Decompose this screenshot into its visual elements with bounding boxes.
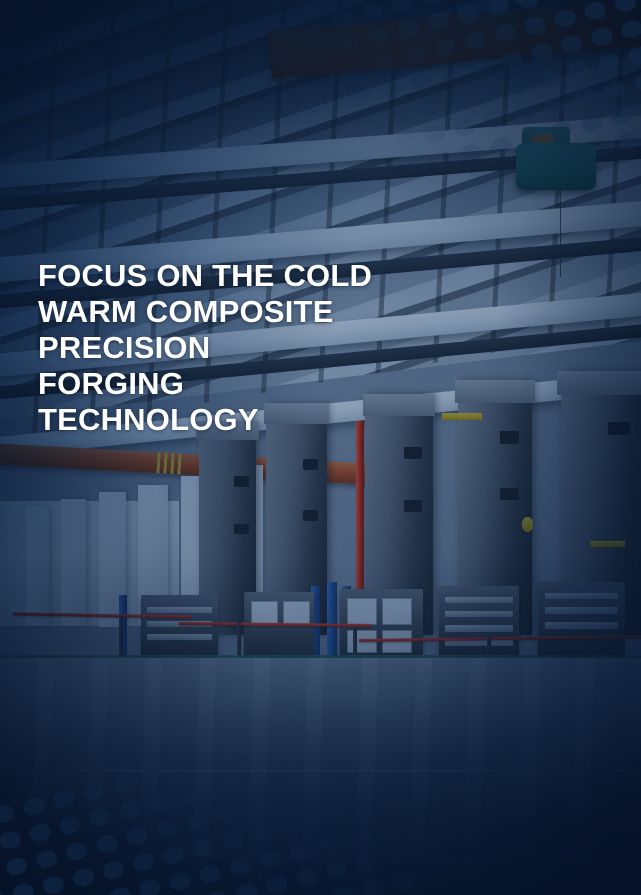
hero-headline: FOCUS ON THE COLD WARM COMPOSITE PRECISI…	[38, 258, 372, 438]
vignette-overlay	[0, 0, 641, 895]
headline-line-1: FOCUS ON THE COLD	[38, 258, 372, 294]
factory-hero-banner: FOCUS ON THE COLD WARM COMPOSITE PRECISI…	[0, 0, 641, 895]
headline-line-5: TECHNOLOGY	[38, 402, 372, 438]
headline-line-4: FORGING	[38, 366, 372, 402]
headline-line-2: WARM COMPOSITE	[38, 294, 372, 330]
headline-line-3: PRECISION	[38, 330, 372, 366]
